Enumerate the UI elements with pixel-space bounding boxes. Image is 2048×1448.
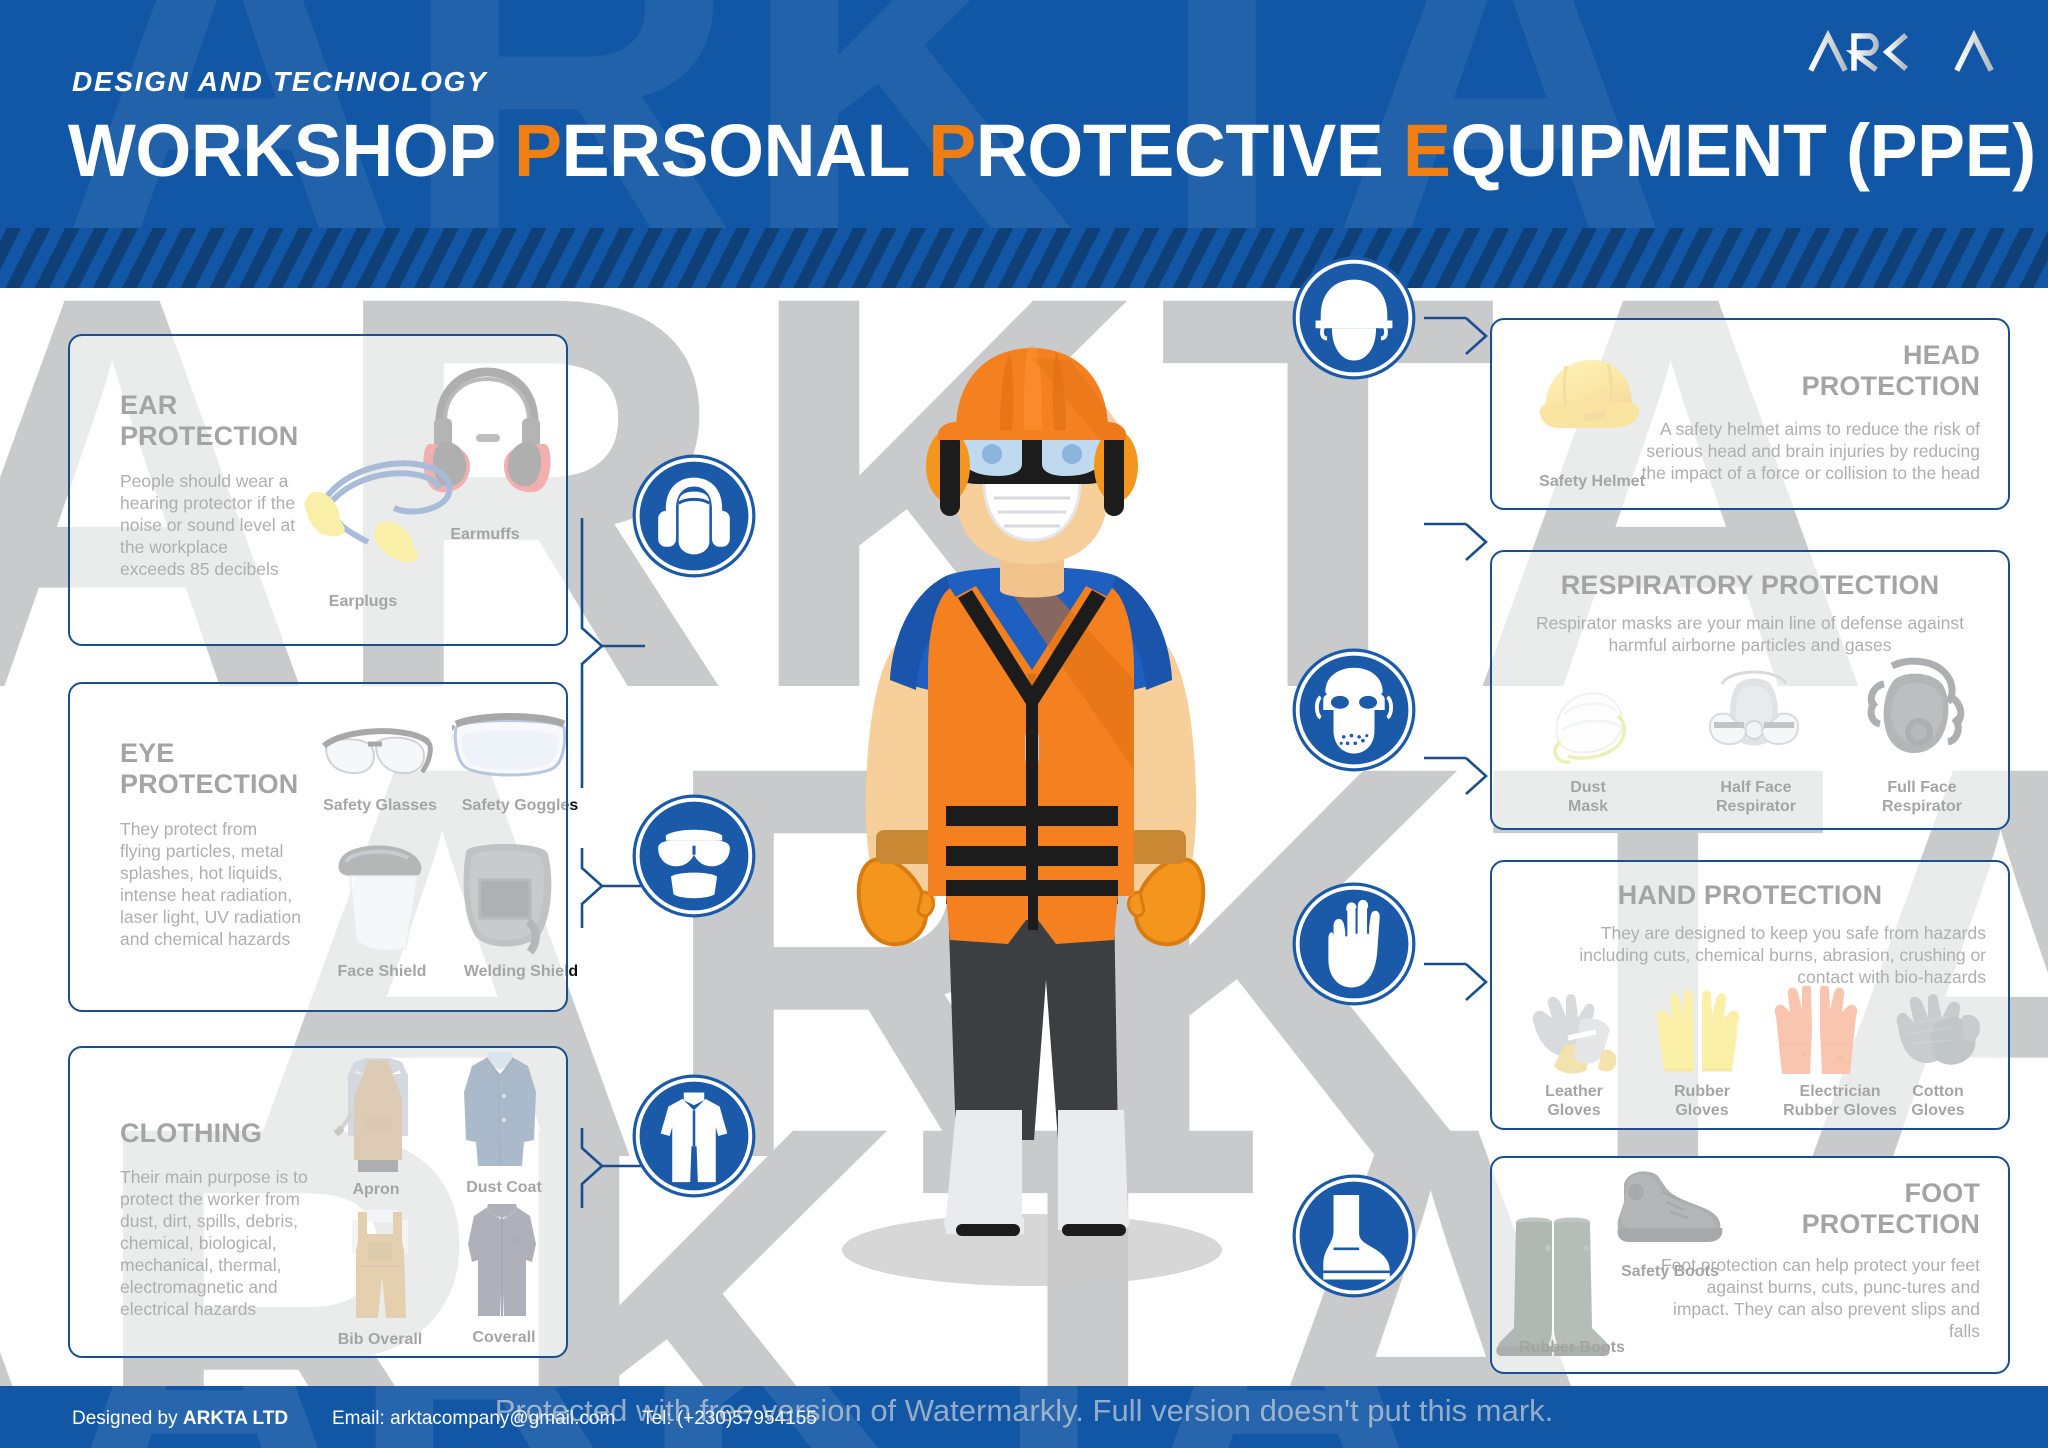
panel-hand-protection <box>1490 860 2010 1130</box>
footer-email: Email: arktacompany@gmail.com <box>332 1408 615 1430</box>
eye-protection-mandatory-icon[interactable] <box>630 792 758 920</box>
header-stripe-band <box>0 228 2048 288</box>
panel-respiratory-protection <box>1490 550 2010 830</box>
protective-clothing-mandatory-icon[interactable] <box>630 1072 758 1200</box>
hand-protection-mandatory-icon[interactable] <box>1290 880 1418 1008</box>
panel-eye-protection <box>68 682 568 1012</box>
footer-designed-prefix: Designed by <box>72 1408 183 1429</box>
page-header: ARKTA DESIGN AND TECHNOLOGY WORKSHOP PER… <box>0 0 2048 228</box>
footer-company: ARKTA LTD <box>183 1408 288 1429</box>
page-title: WORKSHOP PERSONAL PROTECTIVE EQUIPMENT (… <box>68 108 2036 193</box>
arkta-logo <box>1808 26 1994 81</box>
panel-clothing <box>68 1046 568 1358</box>
worker-wearing-ppe-illustration <box>770 340 1290 1300</box>
ear-protection-mandatory-icon[interactable] <box>630 452 758 580</box>
header-kicker: DESIGN AND TECHNOLOGY <box>72 66 487 98</box>
footer-tel: Tel: (+230)57954155 <box>642 1408 817 1430</box>
head-protection-mandatory-icon[interactable] <box>1290 254 1418 382</box>
panel-ear-protection <box>68 334 568 646</box>
panel-head-protection <box>1490 318 2010 510</box>
page-footer: ARKTA <box>0 1386 2048 1448</box>
footer-designed-by: Designed by ARKTA LTD <box>72 1408 288 1430</box>
respiratory-protection-mandatory-icon[interactable] <box>1290 646 1418 774</box>
foot-protection-mandatory-icon[interactable] <box>1290 1172 1418 1300</box>
panel-foot-protection <box>1490 1156 2010 1374</box>
